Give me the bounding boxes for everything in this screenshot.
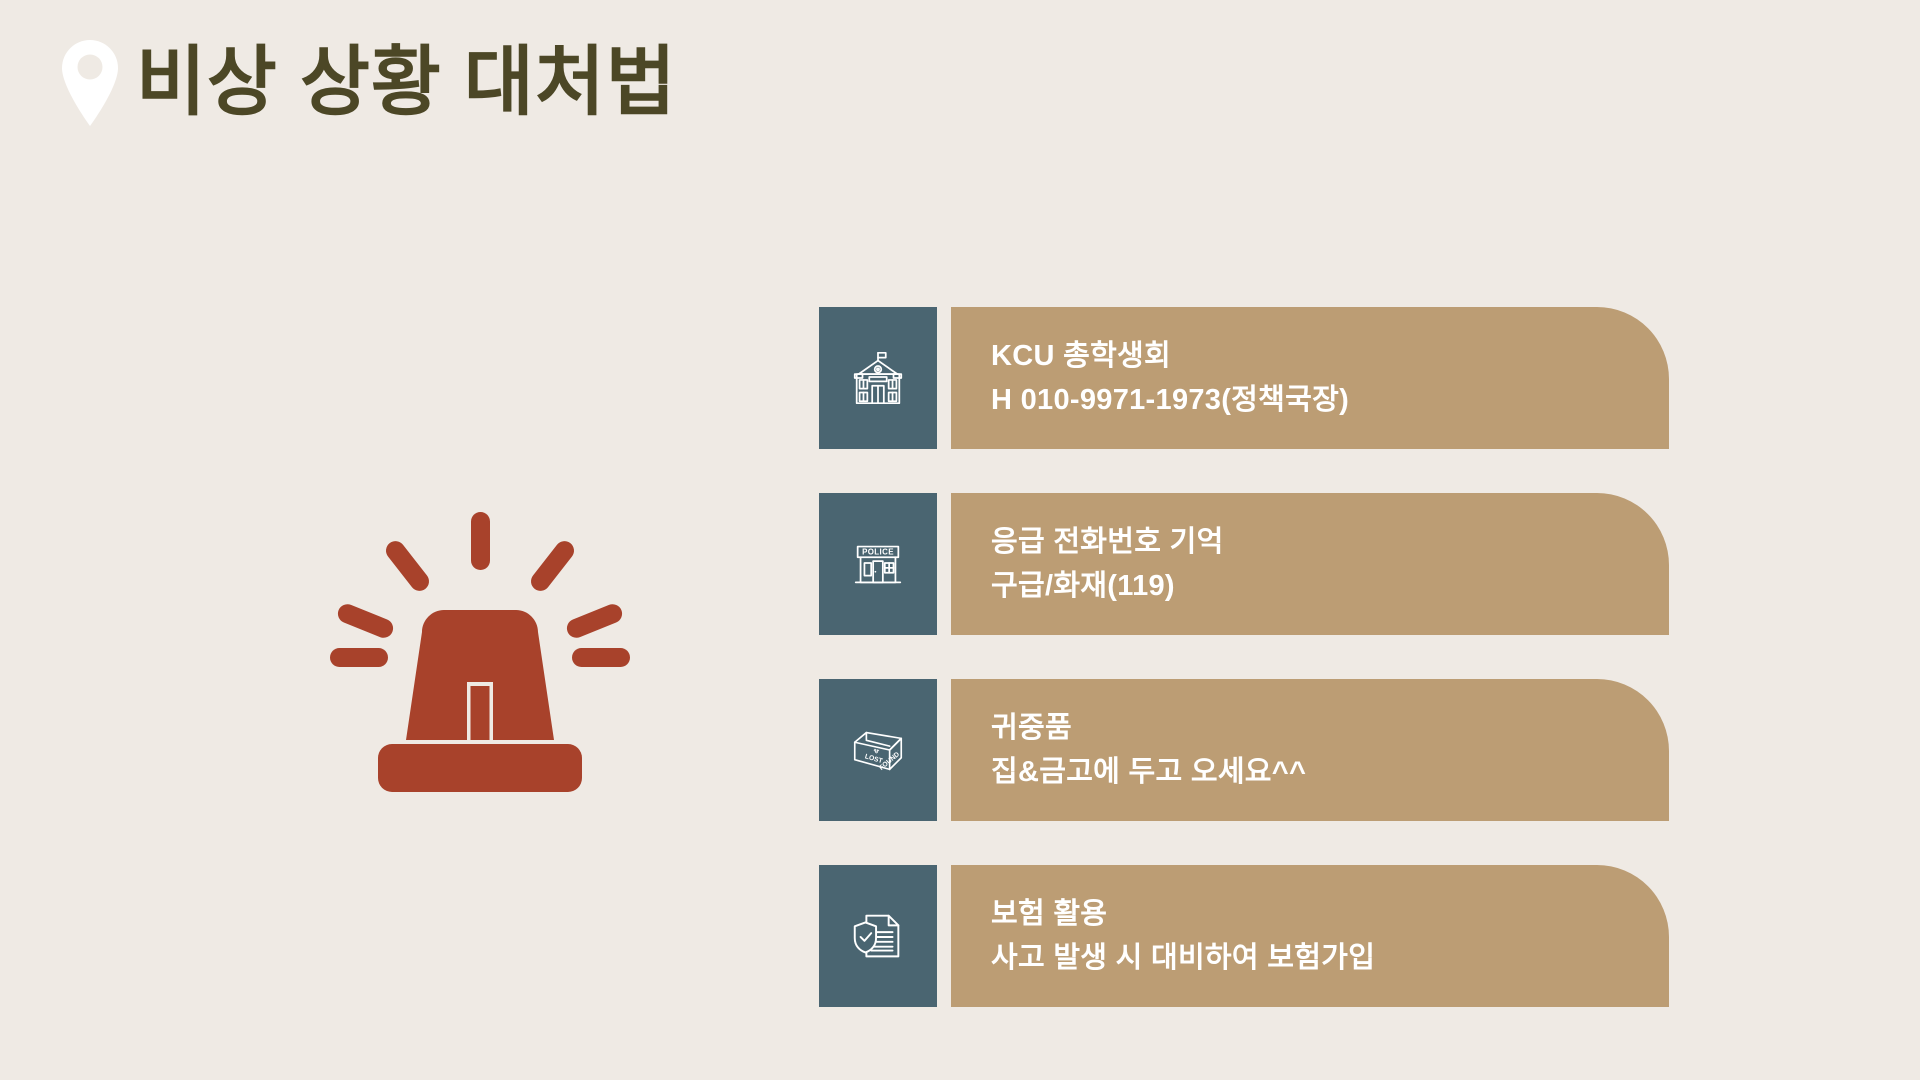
- police-station-icon: POLICE: [847, 533, 909, 595]
- lost-and-found-box-icon: LOST & FOUND: [847, 719, 909, 781]
- card-body: KCU 총학생회 H 010-9971-1973(정책국장): [951, 307, 1669, 449]
- card-body: 귀중품 집&금고에 두고 오세요^^: [951, 679, 1669, 821]
- card-body: 보험 활용 사고 발생 시 대비하여 보험가입: [951, 865, 1669, 1007]
- card-line-primary: 보험 활용: [991, 892, 1669, 936]
- card-line-primary: 응급 전화번호 기억: [991, 520, 1669, 564]
- card-kcu-student-council: KCU 총학생회 H 010-9971-1973(정책국장): [819, 307, 1669, 449]
- card-line-primary: 귀중품: [991, 706, 1669, 750]
- slide-header: 비상 상황 대처법: [62, 40, 677, 126]
- card-insurance: 보험 활용 사고 발생 시 대비하여 보험가입: [819, 865, 1669, 1007]
- svg-text:POLICE: POLICE: [862, 548, 894, 557]
- card-icon-tile: [819, 865, 937, 1007]
- card-icon-tile: POLICE: [819, 493, 937, 635]
- card-line-secondary: 집&금고에 두고 오세요^^: [991, 750, 1669, 794]
- emergency-contact-card-list: KCU 총학생회 H 010-9971-1973(정책국장) POLICE: [819, 307, 1669, 1007]
- card-icon-tile: LOST & FOUND: [819, 679, 937, 821]
- card-icon-tile: [819, 307, 937, 449]
- card-emergency-numbers: POLICE 응급 전화번호 기억 구급/화재(119): [819, 493, 1669, 635]
- emergency-siren-illustration: [330, 500, 630, 810]
- insurance-document-shield-icon: [847, 905, 909, 967]
- school-building-icon: [847, 347, 909, 409]
- card-line-primary: KCU 총학생회: [991, 334, 1669, 378]
- slide-root: 비상 상황 대처법: [0, 0, 1920, 1080]
- card-body: 응급 전화번호 기억 구급/화재(119): [951, 493, 1669, 635]
- card-line-secondary: H 010-9971-1973(정책국장): [991, 378, 1669, 422]
- location-pin-icon: [62, 40, 118, 126]
- page-title: 비상 상황 대처법: [136, 45, 677, 121]
- card-line-secondary: 사고 발생 시 대비하여 보험가입: [991, 936, 1669, 980]
- card-line-secondary: 구급/화재(119): [991, 564, 1669, 608]
- card-valuables: LOST & FOUND 귀중품 집&금고에 두고 오세요^^: [819, 679, 1669, 821]
